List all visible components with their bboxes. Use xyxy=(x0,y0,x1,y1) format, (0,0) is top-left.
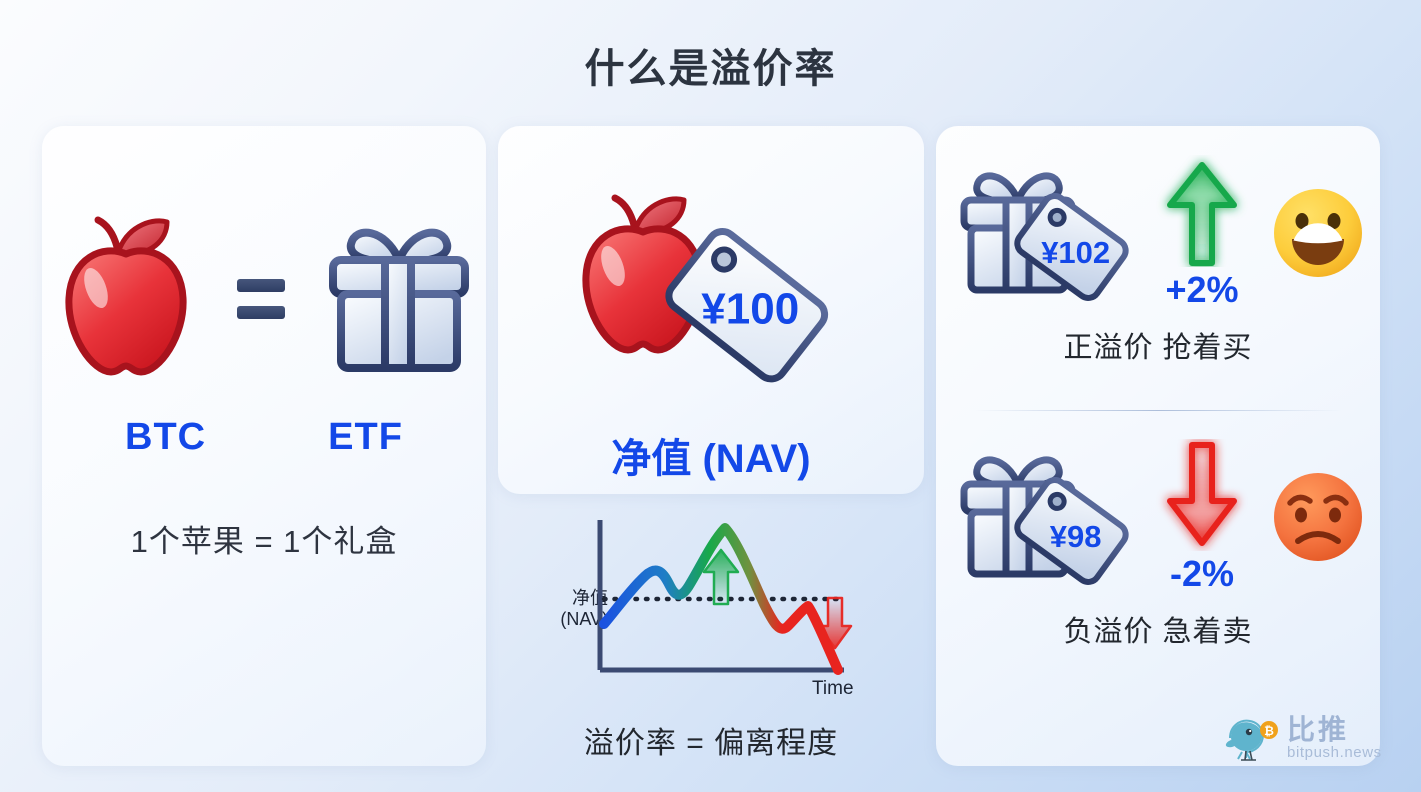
chart-x-axis-label: Time xyxy=(812,678,854,700)
card-btc-etf: BTC ETF 1个苹果 = 1个礼盒 xyxy=(42,126,486,766)
negative-percent: -2% xyxy=(1170,553,1234,595)
chart-svg xyxy=(512,506,912,706)
positive-arrow-column: +2% xyxy=(1146,155,1258,311)
nav-price-value: ¥100 xyxy=(701,284,799,333)
equals-icon xyxy=(237,279,285,319)
nav-label: 净值 (NAV) xyxy=(498,426,924,484)
chart-caption: 溢价率 = 偏离程度 xyxy=(498,718,924,762)
scenario-positive-row: ¥102 xyxy=(936,148,1380,318)
apple-with-price-tag-icon: ¥100 xyxy=(546,178,876,408)
watermark-brand: 比推 xyxy=(1287,715,1382,744)
bird-logo-icon: ₿ xyxy=(1222,712,1280,764)
card-nav: ¥100 净值 (NAV) xyxy=(498,126,924,494)
nav-figure: ¥100 xyxy=(498,168,924,418)
positive-percent: +2% xyxy=(1165,269,1238,311)
grinning-face-icon xyxy=(1268,183,1368,283)
scenario-negative-premium: ¥98 xyxy=(936,432,1380,732)
apple-gift-caption: 1个苹果 = 1个礼盒 xyxy=(42,516,486,561)
gift-with-price-tag-icon: ¥102 xyxy=(956,158,1136,308)
apple-icon xyxy=(51,210,201,382)
svg-text:₿: ₿ xyxy=(1264,724,1274,738)
gift-with-price-tag-icon: ¥98 xyxy=(956,442,1136,592)
watermark: ₿ 比推 bitpush.news xyxy=(1222,712,1382,764)
premium-chart: 净值 (NAV) xyxy=(498,506,924,774)
scenario-divider xyxy=(974,410,1342,411)
positive-caption: 正溢价 抢着买 xyxy=(936,324,1380,366)
up-arrow-icon xyxy=(1156,155,1248,267)
negative-caption: 负溢价 急着卖 xyxy=(936,608,1380,650)
worried-face-icon xyxy=(1268,467,1368,567)
scenario-negative-row: ¥98 xyxy=(936,432,1380,602)
btc-label: BTC xyxy=(125,416,206,459)
scenario-positive-premium: ¥102 xyxy=(936,148,1380,410)
watermark-text: 比推 bitpush.news xyxy=(1287,715,1382,760)
gift-icon xyxy=(321,214,477,378)
down-arrow-icon xyxy=(1156,439,1248,551)
watermark-url: bitpush.news xyxy=(1287,745,1382,761)
page-title: 什么是溢价率 xyxy=(0,36,1421,94)
equation-row xyxy=(42,186,486,406)
positive-price-value: ¥102 xyxy=(1041,235,1110,270)
etf-label: ETF xyxy=(328,416,403,459)
btc-etf-labels: BTC ETF xyxy=(42,416,486,459)
negative-price-value: ¥98 xyxy=(1050,519,1102,554)
negative-arrow-column: -2% xyxy=(1146,439,1258,595)
card-premium-discount: ¥102 xyxy=(936,126,1380,766)
